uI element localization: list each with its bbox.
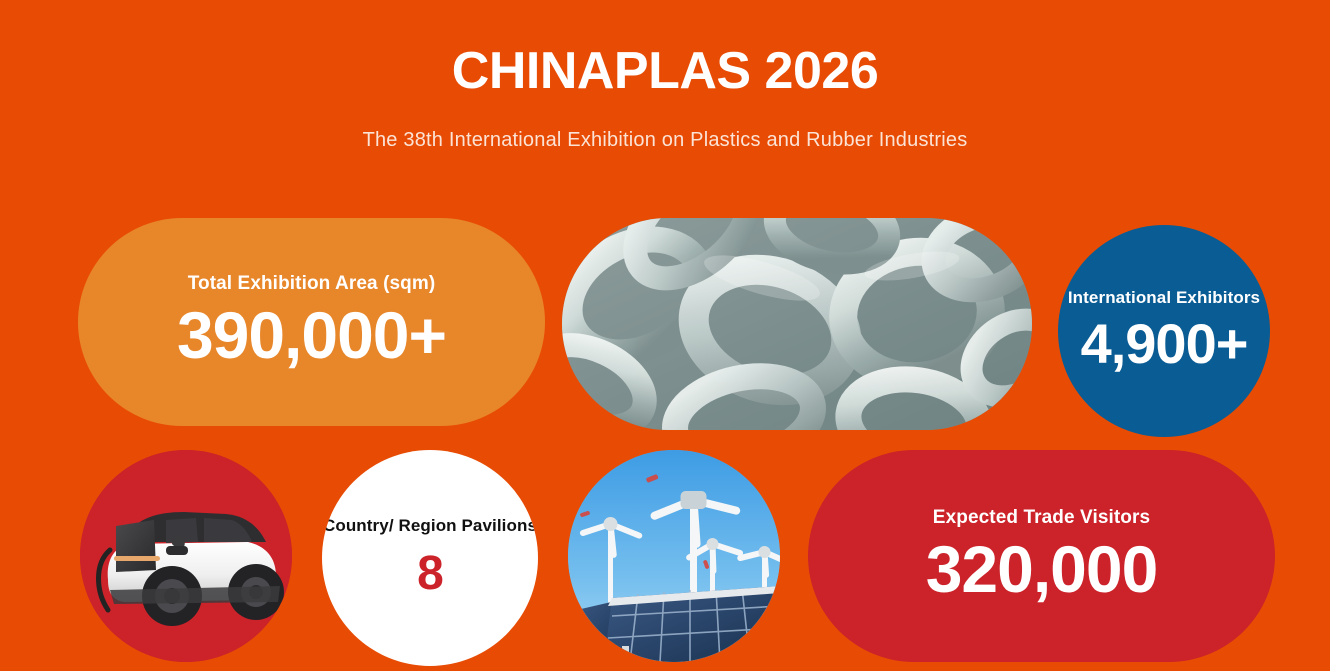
renewable-energy-photo	[568, 450, 780, 662]
stat-card-country-region-pavilions: Country/ Region Pavilions 8	[322, 450, 538, 666]
stat-card-expected-trade-visitors: Expected Trade Visitors 320,000	[808, 450, 1275, 662]
page-title: CHINAPLAS 2026	[0, 40, 1330, 102]
stat-value-country-region-pavilions: 8	[417, 545, 443, 603]
stat-value-international-exhibitors: 4,900+	[1081, 311, 1248, 377]
plastic-rings-photo	[562, 218, 1032, 430]
stat-card-international-exhibitors: International Exhibitors 4,900+	[1058, 225, 1270, 437]
electric-vehicle-artwork	[80, 450, 292, 662]
stat-value-expected-trade-visitors: 320,000	[926, 531, 1158, 607]
stat-label-country-region-pavilions: Country/ Region Pavilions	[323, 513, 537, 539]
stat-label-expected-trade-visitors: Expected Trade Visitors	[933, 505, 1150, 531]
stat-label-total-exhibition-area: Total Exhibition Area (sqm)	[188, 271, 436, 297]
stat-card-total-exhibition-area: Total Exhibition Area (sqm) 390,000+	[78, 218, 545, 426]
electric-vehicle-photo	[80, 450, 292, 662]
infographic-canvas: CHINAPLAS 2026 The 38th International Ex…	[0, 0, 1330, 671]
stat-value-total-exhibition-area: 390,000+	[177, 297, 446, 373]
plastic-rings-artwork	[562, 218, 1032, 430]
stat-label-international-exhibitors: International Exhibitors	[1068, 285, 1260, 311]
header: CHINAPLAS 2026 The 38th International Ex…	[0, 0, 1330, 200]
page-subtitle: The 38th International Exhibition on Pla…	[0, 126, 1330, 154]
renewable-energy-artwork	[568, 450, 780, 662]
